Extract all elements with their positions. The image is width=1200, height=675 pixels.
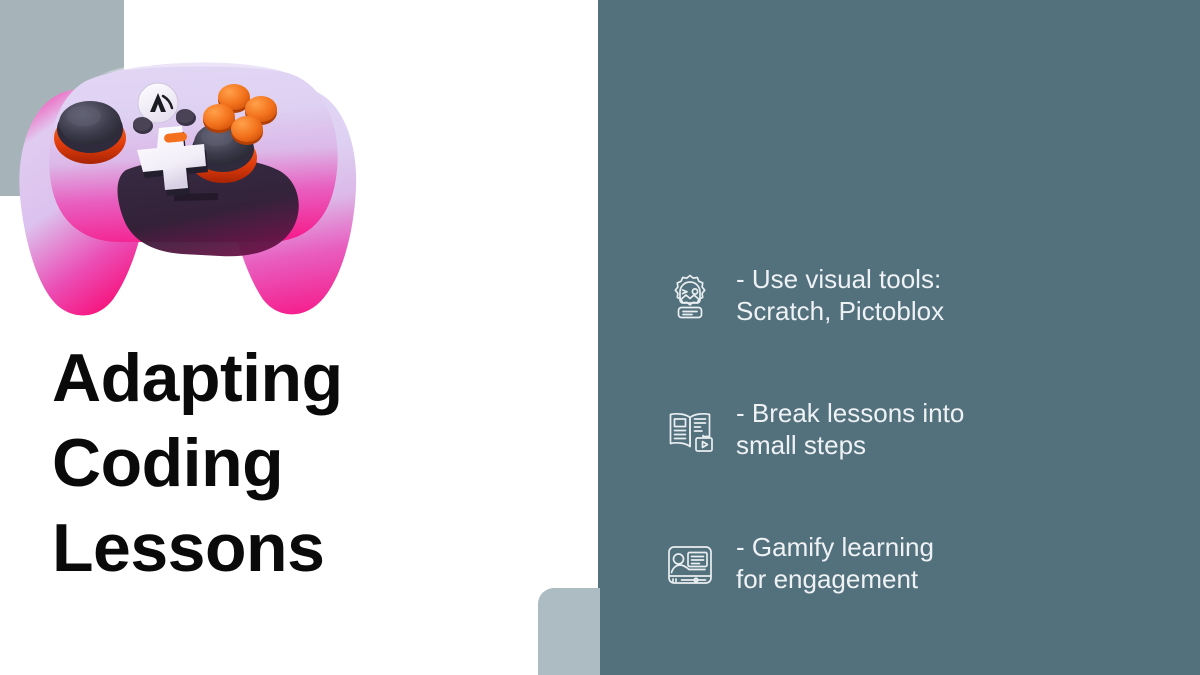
list-item: - Break lessons into small steps (664, 389, 1174, 483)
presentation-learner-icon (664, 539, 716, 591)
open-book-play-icon (664, 405, 716, 457)
slide-canvas: Adapting Coding Lessons - Use visual too… (0, 0, 1200, 675)
robot-gear-icon (664, 271, 716, 323)
list-item-label: - Use visual tools: Scratch, Pictoblox (736, 255, 1174, 327)
list-item: - Use visual tools: Scratch, Pictoblox (664, 255, 1174, 349)
list-item: - Gamify learning for engagement (664, 523, 1174, 617)
list-item-label: - Gamify learning for engagement (736, 523, 1174, 595)
page-title: Adapting Coding Lessons (52, 336, 572, 591)
game-controller-image (6, 30, 378, 330)
left-column: Adapting Coding Lessons (0, 0, 598, 675)
bullet-list: - Use visual tools: Scratch, Pictoblox (664, 255, 1174, 617)
list-item-label: - Break lessons into small steps (736, 389, 1174, 461)
